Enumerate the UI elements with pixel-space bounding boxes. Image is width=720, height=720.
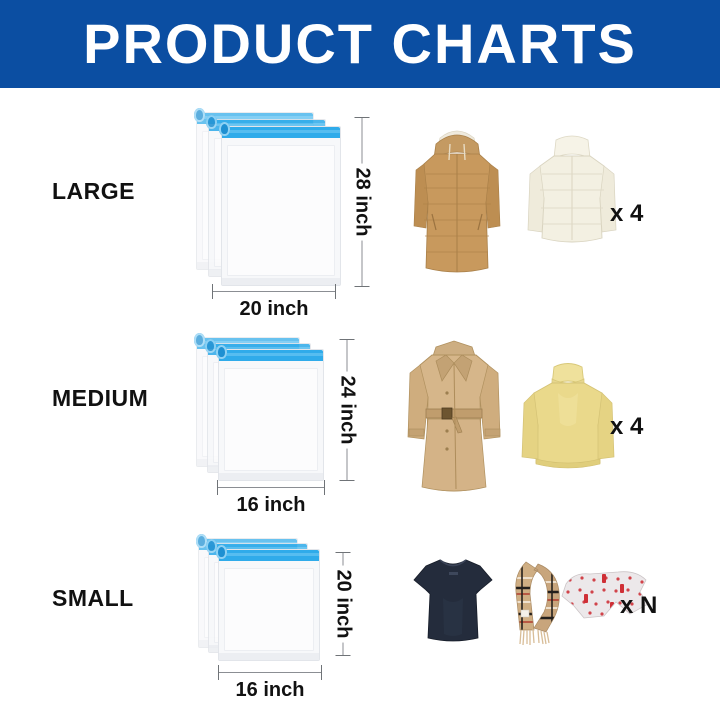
size-row-small: SMALL (0, 530, 720, 718)
garment-navy-t-shirt (410, 554, 496, 646)
height-dimension-label: 20 inch (332, 566, 355, 643)
dimension-cap-bottom (355, 286, 370, 287)
size-row-large: LARGE (0, 100, 720, 322)
dimension-cap-bottom (336, 655, 351, 656)
dimension-line (212, 291, 336, 292)
page-banner: PRODUCT CHARTS (0, 0, 720, 88)
product-chart-page: PRODUCT CHARTS LARGE (0, 0, 720, 720)
vacuum-bag (218, 349, 324, 481)
garment-turtleneck-sweater (518, 363, 618, 481)
garment-group-small: x N (392, 530, 712, 680)
bag-base-band (219, 653, 319, 660)
garment-belted-trench-coat (402, 337, 507, 497)
bag-stack-small (198, 538, 320, 668)
dimension-cap-right (324, 480, 325, 495)
bag-inner-outline (224, 368, 318, 471)
bag-base-band (219, 473, 323, 480)
width-dimension-label: 16 inch (236, 679, 305, 702)
height-dimension-medium: 24 inch (337, 339, 357, 481)
quantity-label-small: x N (620, 592, 657, 620)
dimension-cap-left (218, 665, 219, 680)
garment-group-medium: x 4 (392, 325, 712, 510)
dimension-cap-left (212, 284, 213, 299)
dimension-line (218, 672, 322, 673)
dimension-line (217, 487, 325, 488)
dimension-cap-top (355, 117, 370, 118)
size-label-large: LARGE (52, 178, 135, 205)
bag-inner-outline (224, 568, 314, 651)
height-dimension-label: 28 inch (351, 164, 374, 241)
vacuum-bag (218, 549, 320, 661)
dimension-cap-right (335, 284, 336, 299)
zipper-strip (222, 127, 340, 138)
zipper-slider-icon (194, 333, 205, 347)
zipper-slider-icon (205, 339, 216, 353)
dimension-cap-right (321, 665, 322, 680)
dimension-cap-top (340, 339, 355, 340)
height-dimension-label: 24 inch (336, 372, 359, 449)
size-row-medium: MEDIUM (0, 325, 720, 525)
width-dimension-label: 20 inch (240, 298, 309, 321)
zipper-slider-icon (194, 108, 205, 122)
dimension-cap-bottom (340, 480, 355, 481)
zipper-strip (219, 550, 319, 561)
page-title: PRODUCT CHARTS (83, 16, 637, 72)
height-dimension-small: 20 inch (333, 552, 353, 656)
garment-long-hooded-puffer-coat (402, 122, 512, 282)
bag-stack-medium (196, 337, 326, 489)
vacuum-bag (221, 126, 341, 286)
zipper-slider-icon (219, 122, 230, 136)
size-label-medium: MEDIUM (52, 385, 148, 412)
bag-base-band (222, 278, 340, 285)
zipper-slider-icon (206, 115, 217, 129)
bag-stack-large (196, 112, 342, 290)
zipper-slider-icon (216, 545, 227, 559)
zipper-slider-icon (216, 345, 227, 359)
garment-short-puffer-jacket (520, 134, 625, 259)
width-dimension-label: 16 inch (237, 494, 306, 517)
dimension-cap-left (217, 480, 218, 495)
zipper-strip (219, 350, 323, 361)
garment-group-large: x 4 (392, 100, 712, 300)
quantity-label-medium: x 4 (610, 413, 643, 441)
dimension-cap-top (336, 552, 351, 553)
height-dimension-large: 28 inch (352, 117, 372, 287)
quantity-label-large: x 4 (610, 200, 643, 228)
size-label-small: SMALL (52, 585, 134, 612)
bag-inner-outline (227, 145, 335, 276)
